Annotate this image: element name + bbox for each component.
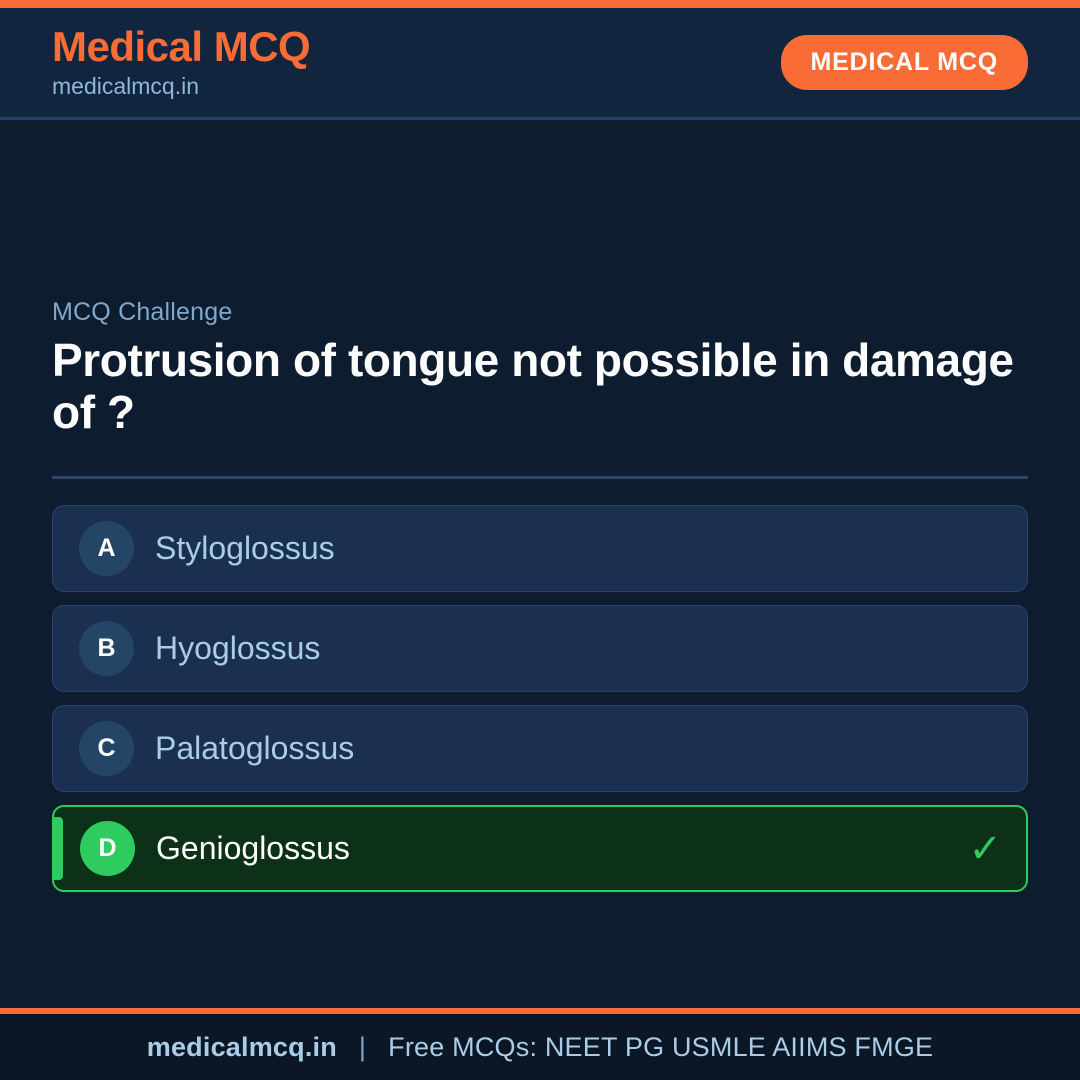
option-row-d[interactable]: D Genioglossus ✓: [52, 805, 1028, 892]
brand-title: Medical MCQ: [52, 25, 310, 69]
main-content: MCQ Challenge Protrusion of tongue not p…: [0, 120, 1080, 1008]
option-letter-badge: B: [79, 621, 134, 676]
footer-bar: medicalmcq.in | Free MCQs: NEET PG USMLE…: [0, 1014, 1080, 1080]
check-icon: ✓: [968, 829, 1002, 869]
question-text: Protrusion of tongue not possible in dam…: [52, 335, 1028, 438]
option-row-b[interactable]: B Hyoglossus: [52, 605, 1028, 692]
option-label: Hyoglossus: [155, 630, 320, 667]
footer-separator: |: [359, 1032, 366, 1063]
option-row-c[interactable]: C Palatoglossus: [52, 705, 1028, 792]
correct-accent-bar: [54, 817, 63, 880]
header-badge: MEDICAL MCQ: [781, 35, 1029, 90]
option-label: Palatoglossus: [155, 730, 354, 767]
option-letter-badge: A: [79, 521, 134, 576]
option-letter-badge: C: [79, 721, 134, 776]
footer-site: medicalmcq.in: [147, 1032, 337, 1063]
top-accent-bar: [0, 0, 1080, 8]
brand-subtitle: medicalmcq.in: [52, 72, 310, 101]
footer-exams: Free MCQs: NEET PG USMLE AIIMS FMGE: [388, 1032, 933, 1063]
options-list: A Styloglossus B Hyoglossus C Palatoglos…: [52, 505, 1028, 892]
mcq-card: Medical MCQ medicalmcq.in MEDICAL MCQ MC…: [0, 0, 1080, 1080]
option-row-a[interactable]: A Styloglossus: [52, 505, 1028, 592]
brand: Medical MCQ medicalmcq.in: [52, 25, 310, 101]
option-label: Genioglossus: [156, 830, 350, 867]
page-footer: medicalmcq.in | Free MCQs: NEET PG USMLE…: [0, 1008, 1080, 1080]
option-label: Styloglossus: [155, 530, 335, 567]
page-header: Medical MCQ medicalmcq.in MEDICAL MCQ: [0, 8, 1080, 120]
eyebrow-label: MCQ Challenge: [52, 298, 1028, 327]
option-letter-badge: D: [80, 821, 135, 876]
question-divider: [52, 476, 1028, 479]
